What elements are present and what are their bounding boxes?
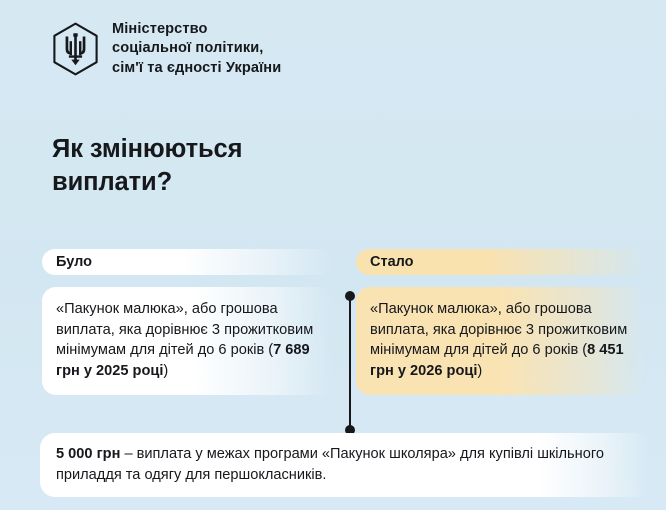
header: Міністерство соціальної політики, сім'ї … [52,20,281,78]
page-title: Як змінюються виплати? [52,133,472,198]
column-before-tag: Було [42,249,332,275]
banner-amount: 5 000 грн [56,446,120,462]
column-before-text-end: ) [163,363,168,379]
banner-text: – виплата у межах програми «Пакунок школ… [56,446,604,483]
column-after-text-end: ) [477,363,482,379]
column-after-body: «Пакунок малюка», або грошова виплата, я… [356,287,646,395]
infographic-page: Міністерство соціальної політики, сім'ї … [0,0,666,510]
column-after-tag-label: Стало [370,255,414,270]
column-before-body: «Пакунок малюка», або грошова виплата, я… [42,287,332,395]
ukraine-trident-hexagon-icon [52,22,99,76]
column-after: Стало «Пакунок малюка», або грошова випл… [356,249,646,395]
column-divider [345,291,355,435]
column-after-tag: Стало [356,249,646,275]
divider-line [349,295,351,431]
bottom-banner: 5 000 грн – виплата у межах програми «Па… [40,433,650,497]
column-before: Було «Пакунок малюка», або грошова випла… [42,249,332,395]
comparison-section: Було «Пакунок малюка», або грошова випла… [0,249,666,414]
organization-name: Міністерство соціальної політики, сім'ї … [112,20,281,78]
column-before-tag-label: Було [56,255,92,270]
